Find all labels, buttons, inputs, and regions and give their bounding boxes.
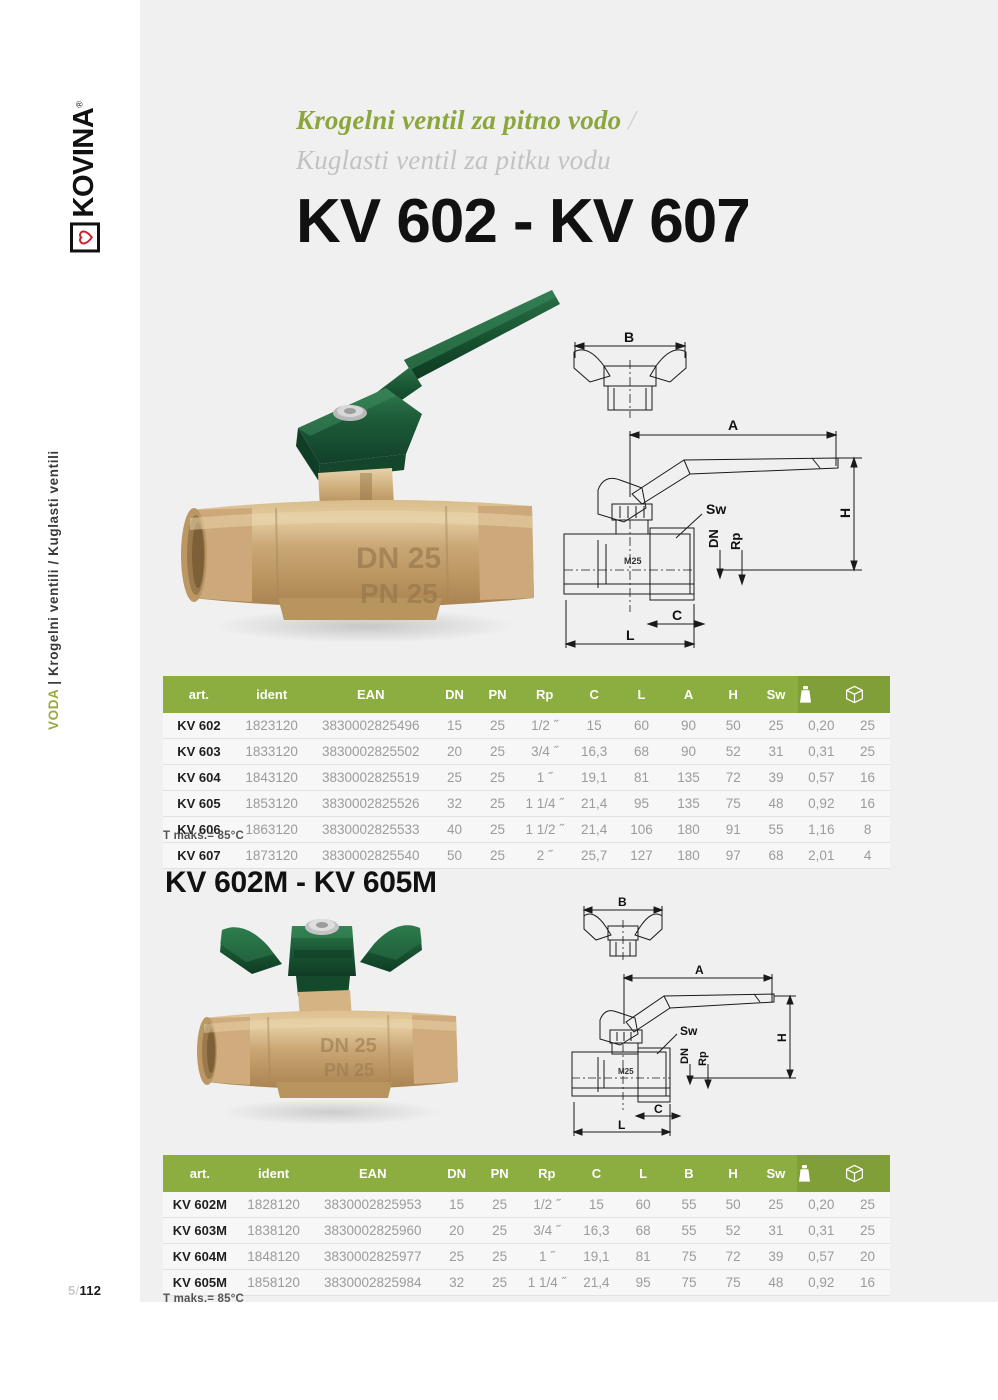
cell-l: 95 [620,1270,666,1296]
cell-h: 72 [712,1244,754,1270]
cell-ident: 1823120 [235,713,309,739]
cell-pack: 16 [845,765,890,791]
cell-ident: 1873120 [235,843,309,869]
col-header-art: art. [163,676,235,713]
table-row: KV 602 1823120 3830002825496 15 25 1/2 ˝… [163,713,890,739]
cell-l: 60 [618,713,665,739]
cell-ean: 3830002825977 [310,1244,435,1270]
cell-c: 16,3 [573,1218,621,1244]
table-row: KV 604 1843120 3830002825519 25 25 1 ˝ 1… [163,765,890,791]
section-title-kv602m: KV 602M - KV 605M [165,866,437,900]
cell-pn: 25 [478,1244,521,1270]
cell-c: 21,4 [570,817,618,843]
table-row: KV 603M 1838120 3830002825960 20 25 3/4 … [163,1218,890,1244]
technical-drawing-butterfly-valve: B A Sw DN Rp H C L M25 [562,892,902,1138]
package-icon [845,676,890,713]
cell-weight: 1,16 [798,817,846,843]
col-header-pn: PN [478,1155,521,1192]
drawing2-body-mark: M25 [618,1067,634,1076]
col-header-art: art. [163,1155,237,1192]
cell-dn: 25 [435,1244,478,1270]
cell-weight: 0,31 [797,1218,845,1244]
cell-dn: 40 [433,817,476,843]
spec-table-kv602m-605m: art. ident EAN DN PN Rp C L B H Sw [163,1155,890,1296]
drawing2-label-b: B [618,895,627,909]
cell-sw: 48 [754,1270,797,1296]
cell-c: 15 [570,713,618,739]
cell-pn: 25 [476,765,519,791]
cell-art: KV 602M [163,1192,237,1218]
drawing-label-h: H [837,508,853,518]
cell-sw: 31 [754,1218,797,1244]
table-header-row: art. ident EAN DN PN Rp C L A H Sw [163,676,890,713]
cell-c: 25,7 [570,843,618,869]
cell-dn: 25 [433,765,476,791]
cell-weight: 0,57 [798,765,846,791]
cell-rp: 3/4 ˝ [519,739,570,765]
temperature-note-2: T maks.= 85°C [163,1293,244,1305]
cell-h: 75 [712,1270,754,1296]
cell-ident: 1843120 [235,765,309,791]
page-number-total: 112 [79,1283,101,1298]
cell-l: 106 [618,817,665,843]
cell-rp: 1 ˝ [521,1244,572,1270]
col-header-a: A [665,676,712,713]
cell-a: 90 [665,739,712,765]
cell-weight: 0,92 [798,791,846,817]
vertical-section-label: VODA | Krogelni ventili / Kuglasti venti… [61,300,83,730]
cell-a: 135 [665,765,712,791]
col-header-rp: Rp [519,676,570,713]
table-row: KV 607 1873120 3830002825540 50 25 2 ˝ 2… [163,843,890,869]
cell-pack: 4 [845,843,890,869]
cell-sw: 31 [754,739,797,765]
table-header-row: art. ident EAN DN PN Rp C L B H Sw [163,1155,890,1192]
table-row: KV 602M 1828120 3830002825953 15 25 1/2 … [163,1192,890,1218]
cell-dn: 15 [433,713,476,739]
vertical-label-subsection: | Krogelni ventili / Kuglasti ventili [46,450,61,689]
cell-b: 55 [666,1192,712,1218]
photo2-emboss-pn: PN 25 [324,1060,374,1080]
table-row: KV 605M 1858120 3830002825984 32 25 1 1/… [163,1270,890,1296]
col-header-dn: DN [435,1155,478,1192]
cell-rp: 1 1/4 ˝ [519,791,570,817]
drawing2-label-c: C [654,1102,663,1116]
cell-dn: 32 [433,791,476,817]
cell-sw: 25 [754,713,797,739]
photo-emboss-dn: DN 25 [356,542,441,575]
package-icon [845,1155,890,1192]
cell-ean: 3830002825960 [310,1218,435,1244]
heart-in-square-icon [70,222,100,252]
cell-h: 91 [712,817,754,843]
cell-h: 72 [712,765,754,791]
cell-rp: 2 ˝ [519,843,570,869]
vertical-label-category: VODA [46,689,61,730]
cell-pack: 25 [845,1192,890,1218]
drawing-label-dn: DN [706,529,721,548]
cell-c: 21,4 [570,791,618,817]
cell-art: KV 602 [163,713,235,739]
cell-art: KV 605 [163,791,235,817]
cell-l: 81 [618,765,665,791]
drawing2-label-dn: DN [679,1048,691,1064]
cell-pn: 25 [476,713,519,739]
cell-dn: 15 [435,1192,478,1218]
cell-c: 16,3 [570,739,618,765]
col-header-l: L [618,676,665,713]
cell-c: 21,4 [573,1270,621,1296]
cell-pn: 25 [478,1192,521,1218]
cell-ident: 1863120 [235,817,309,843]
col-header-h: H [712,676,754,713]
cell-ident: 1853120 [235,791,309,817]
cell-pack: 8 [845,817,890,843]
weight-icon [797,1155,845,1192]
cell-rp: 1 1/4 ˝ [521,1270,572,1296]
cell-ident: 1858120 [237,1270,311,1296]
cell-l: 60 [620,1192,666,1218]
page-title: KV 602 - KV 607 [296,186,750,257]
cell-weight: 2,01 [798,843,846,869]
cell-l: 68 [618,739,665,765]
cell-ean: 3830002825533 [308,817,433,843]
col-header-sw: Sw [754,1155,797,1192]
cell-ident: 1833120 [235,739,309,765]
spec-table-kv602-607: art. ident EAN DN PN Rp C L A H Sw [163,676,890,869]
cell-l: 81 [620,1244,666,1270]
drawing2-label-sw: Sw [680,1024,698,1038]
cell-rp: 1 ˝ [519,765,570,791]
cell-rp: 1/2 ˝ [521,1192,572,1218]
drawing-label-a: A [728,417,738,433]
col-header-pn: PN [476,676,519,713]
technical-drawing-lever-valve: B A Sw DN Rp H C L M25 [550,322,900,652]
cell-ident: 1838120 [237,1218,311,1244]
drawing-label-c: C [672,607,682,623]
cell-h: 50 [712,1192,754,1218]
cell-rp: 1 1/2 ˝ [519,817,570,843]
cell-art: KV 603M [163,1218,237,1244]
cell-l: 95 [618,791,665,817]
title-slash: / [621,105,636,135]
cell-b: 55 [666,1218,712,1244]
sidebar: KOVINA® VODA | Krogelni ventili / Kuglas… [0,0,140,1400]
cell-ean: 3830002825519 [308,765,433,791]
col-header-ean: EAN [308,676,433,713]
photo-emboss-pn: PN 25 [360,578,438,609]
cell-ean: 3830002825502 [308,739,433,765]
cell-art: KV 603 [163,739,235,765]
cell-dn: 20 [433,739,476,765]
cell-weight: 0,20 [797,1192,845,1218]
cell-pn: 25 [476,791,519,817]
col-header-c: C [570,676,618,713]
cell-weight: 0,92 [797,1270,845,1296]
cell-pack: 20 [845,1244,890,1270]
cell-weight: 0,57 [797,1244,845,1270]
drawing-body-mark: M25 [624,556,642,566]
cell-art: KV 604M [163,1244,237,1270]
cell-pack: 16 [845,791,890,817]
cell-ean: 3830002825953 [310,1192,435,1218]
cell-sw: 68 [754,843,797,869]
table-row: KV 606 1863120 3830002825533 40 25 1 1/2… [163,817,890,843]
drawing-label-sw: Sw [706,501,726,517]
cell-pn: 25 [478,1270,521,1296]
cell-sw: 25 [754,1192,797,1218]
cell-ean: 3830002825540 [308,843,433,869]
cell-a: 180 [665,817,712,843]
cell-a: 90 [665,713,712,739]
registered-mark: ® [74,102,84,108]
cell-dn: 20 [435,1218,478,1244]
col-header-ident: ident [235,676,309,713]
cell-pack: 25 [845,739,890,765]
cell-h: 52 [712,1218,754,1244]
cell-l: 68 [620,1218,666,1244]
col-header-rp: Rp [521,1155,572,1192]
cell-pn: 25 [476,843,519,869]
page-title-slovenian: Krogelni ventil za pitno vodo / [296,105,636,136]
cell-dn: 32 [435,1270,478,1296]
cell-weight: 0,31 [798,739,846,765]
col-header-l: L [620,1155,666,1192]
col-header-ean: EAN [310,1155,435,1192]
cell-sw: 55 [754,817,797,843]
page-number: 5/112 [68,1283,101,1298]
table-row: KV 604M 1848120 3830002825977 25 25 1 ˝ … [163,1244,890,1270]
cell-pack: 25 [845,1218,890,1244]
catalog-page: KOVINA® VODA | Krogelni ventili / Kuglas… [0,0,998,1400]
cell-sw: 39 [754,765,797,791]
col-header-b: B [666,1155,712,1192]
cell-ean: 3830002825496 [308,713,433,739]
cell-sw: 39 [754,1244,797,1270]
table-row: KV 603 1833120 3830002825502 20 25 3/4 ˝… [163,739,890,765]
drawing2-label-a: A [695,963,704,977]
drawing2-label-rp: Rp [697,1051,709,1066]
cell-c: 19,1 [573,1244,621,1270]
drawing2-label-l: L [618,1118,625,1132]
cell-h: 50 [712,713,754,739]
cell-art: KV 604 [163,765,235,791]
product-photo-lever-valve: DN 25 PN 25 [160,268,560,660]
cell-rp: 3/4 ˝ [521,1218,572,1244]
cell-ean: 3830002825984 [310,1270,435,1296]
drawing-label-l: L [626,627,635,643]
cell-c: 19,1 [570,765,618,791]
cell-ean: 3830002825526 [308,791,433,817]
logo-wordmark: KOVINA® [70,102,99,218]
cell-c: 15 [573,1192,621,1218]
cell-pn: 25 [476,739,519,765]
drawing-label-b: B [624,329,634,345]
cell-a: 135 [665,791,712,817]
page-title-croatian: Kuglasti ventil za pitku vodu [296,145,611,176]
cell-sw: 48 [754,791,797,817]
col-header-ident: ident [237,1155,311,1192]
photo2-emboss-dn: DN 25 [320,1035,377,1057]
cell-ident: 1848120 [237,1244,311,1270]
cell-art: KV 605M [163,1270,237,1296]
col-header-sw: Sw [754,676,797,713]
drawing-label-rp: Rp [728,533,743,550]
col-header-dn: DN [433,676,476,713]
weight-icon [798,676,846,713]
cell-pack: 25 [845,713,890,739]
cell-dn: 50 [433,843,476,869]
cell-pn: 25 [478,1218,521,1244]
table-row: KV 605 1853120 3830002825526 32 25 1 1/4… [163,791,890,817]
col-header-h: H [712,1155,754,1192]
company-logo: KOVINA® [62,92,108,262]
cell-h: 52 [712,739,754,765]
product-photo-butterfly-valve: DN 25 PN 25 [180,900,480,1132]
drawing2-label-h: H [775,1033,789,1042]
col-header-c: C [573,1155,621,1192]
cell-pn: 25 [476,817,519,843]
cell-b: 75 [666,1244,712,1270]
temperature-note-1: T maks.= 85°C [163,830,244,842]
cell-rp: 1/2 ˝ [519,713,570,739]
cell-h: 75 [712,791,754,817]
cell-ident: 1828120 [237,1192,311,1218]
cell-weight: 0,20 [798,713,846,739]
cell-art: KV 607 [163,843,235,869]
cell-l: 127 [618,843,665,869]
cell-a: 180 [665,843,712,869]
cell-pack: 16 [845,1270,890,1296]
cell-h: 97 [712,843,754,869]
page-number-current: 5 [68,1283,76,1298]
cell-b: 75 [666,1270,712,1296]
